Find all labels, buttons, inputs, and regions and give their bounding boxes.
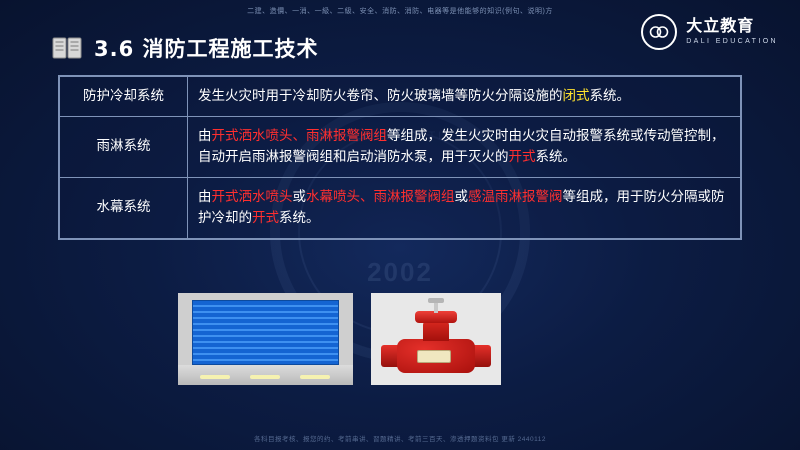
text-segment: 或 (293, 189, 307, 205)
page-title: 3.6 消防工程施工技术 (52, 33, 319, 63)
row-name-1: 雨淋系统 (60, 116, 188, 177)
row-desc-2: 由开式洒水喷头或水幕喷头、雨淋报警阀组或感温雨淋报警阀等组成，用于防火分隔或防护… (188, 177, 741, 238)
text-segment: 感温雨淋报警阀 (468, 189, 563, 205)
text-segment: 水幕喷头、雨淋报警阀组 (306, 189, 455, 205)
logo-title-cn: 大立教育 (686, 18, 778, 35)
book-icon (52, 35, 82, 61)
text-segment: 发生火灾时用于冷却防火卷帘、防火玻璃墙等防火分隔设施的 (198, 88, 563, 104)
systems-table-body: 防护冷却系统 发生火灾时用于冷却防火卷帘、防火玻璃墙等防火分隔设施的闭式系统。 … (60, 77, 741, 239)
bottom-marquee: 各科目报考核、报您的约、考前串讲、習题精讲、考前三百天、渗透押题资料包 更新 2… (0, 433, 800, 443)
slide-canvas: DALI EDUCATION 2002 二建、造價、一消、一級、二級、安全、消防… (0, 0, 800, 450)
text-segment: 或 (455, 189, 469, 205)
text-segment: 开式洒水喷头 (212, 189, 293, 205)
row-desc-1: 由开式洒水喷头、雨淋报警阀组等组成，发生火灾时由火灾自动报警系统或传动管控制，自… (188, 116, 741, 177)
text-segment: 由 (198, 189, 212, 205)
text-segment: 开式 (509, 149, 536, 165)
systems-table: 防护冷却系统 发生火灾时用于冷却防火卷帘、防火玻璃墙等防火分隔设施的闭式系统。 … (58, 75, 742, 240)
text-segment: 系统。 (590, 88, 631, 104)
text-segment: 系统。 (279, 210, 320, 226)
table-row: 水幕系统 由开式洒水喷头或水幕喷头、雨淋报警阀组或感温雨淋报警阀等组成，用于防火… (60, 177, 741, 238)
logo-title-en: DALI EDUCATION (686, 38, 778, 45)
deluge-valve-photo (371, 293, 501, 385)
text-segment: 闭式 (563, 88, 590, 104)
table-row: 雨淋系统 由开式洒水喷头、雨淋报警阀组等组成，发生火灾时由火灾自动报警系统或传动… (60, 116, 741, 177)
fire-shutter-photo (178, 293, 353, 385)
photo-row (178, 293, 501, 385)
text-segment: 开式 (252, 210, 279, 226)
text-segment: 由 (198, 128, 212, 144)
row-desc-0: 发生火灾时用于冷却防火卷帘、防火玻璃墙等防火分隔设施的闭式系统。 (188, 77, 741, 117)
row-name-0: 防护冷却系统 (60, 77, 188, 117)
table-row: 防护冷却系统 发生火灾时用于冷却防火卷帘、防火玻璃墙等防火分隔设施的闭式系统。 (60, 77, 741, 117)
brand-logo: 大立教育 DALI EDUCATION (641, 14, 778, 50)
text-segment: 开式洒水喷头、雨淋报警阀组 (212, 128, 388, 144)
text-segment: 系统。 (536, 149, 577, 165)
watermark-year: 2002 (367, 257, 433, 288)
page-title-text: 3.6 消防工程施工技术 (94, 33, 319, 63)
row-name-2: 水幕系统 (60, 177, 188, 238)
dali-emblem-icon (641, 14, 677, 50)
